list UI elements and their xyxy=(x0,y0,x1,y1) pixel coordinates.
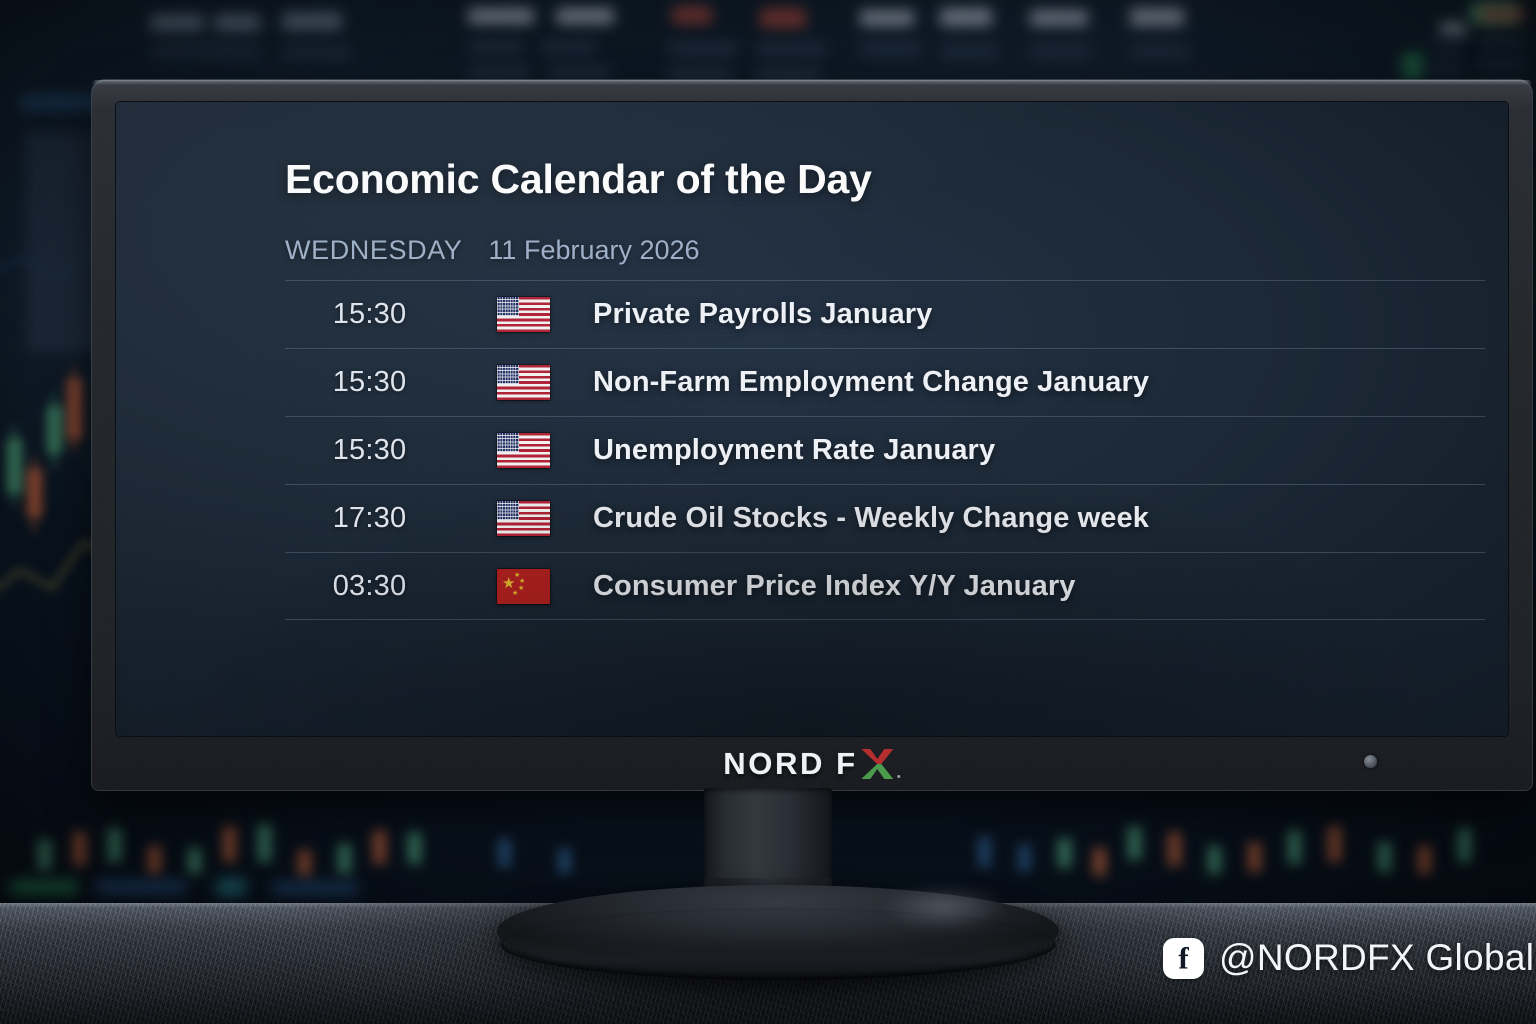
background-panel xyxy=(468,66,530,80)
power-led-indicator[interactable] xyxy=(1364,755,1377,768)
social-watermark[interactable]: f @NORDFX Global xyxy=(1163,937,1534,979)
background-panel xyxy=(96,880,186,894)
background-panel xyxy=(1402,52,1424,80)
brand-logo-registered-dot xyxy=(898,775,901,778)
date-weekday: WEDNESDAY xyxy=(285,235,462,266)
background-panel xyxy=(760,8,806,28)
background-panel xyxy=(540,40,596,54)
background-panel xyxy=(548,66,610,80)
background-panel xyxy=(282,12,342,30)
event-time: 17:30 xyxy=(285,502,454,535)
background-panel xyxy=(556,8,614,24)
event-title: Unemployment Rate January xyxy=(593,434,995,467)
background-panel xyxy=(672,6,712,24)
background-panel xyxy=(1030,10,1088,26)
background-panel xyxy=(1478,58,1524,70)
table-row[interactable]: 17:30 Crude Oil Stocks - Weekly Change w… xyxy=(285,484,1485,552)
event-title: Consumer Price Index Y/Y January xyxy=(593,570,1075,603)
background-panel xyxy=(1030,44,1092,58)
flag-us-icon xyxy=(497,297,550,332)
event-title: Crude Oil Stocks - Weekly Change week xyxy=(593,502,1149,535)
events-table: 15:30 Private Payrolls January 15:30 xyxy=(285,280,1485,620)
monitor-screen-frame: Economic Calendar of the Day WEDNESDAY 1… xyxy=(116,102,1508,736)
event-flag-cell xyxy=(454,297,593,332)
event-flag-cell xyxy=(454,433,593,468)
bezel-highlight xyxy=(92,80,1532,85)
table-row[interactable]: 03:30 ★★ ★★★ Consumer Price Index Y/Y Ja… xyxy=(285,552,1485,620)
background-panel xyxy=(150,44,260,57)
event-flag-cell xyxy=(454,365,593,400)
background-panel xyxy=(10,880,78,894)
background-panel xyxy=(668,42,738,56)
calendar-content: Economic Calendar of the Day WEDNESDAY 1… xyxy=(116,102,1508,736)
background-panel xyxy=(468,40,524,54)
background-panel xyxy=(282,46,352,59)
date-row: WEDNESDAY 11 February 2026 xyxy=(285,235,1508,266)
monitor-stand-highlight xyxy=(880,885,1010,929)
background-panel xyxy=(860,42,922,56)
event-flag-cell xyxy=(454,501,593,536)
background-panel xyxy=(1130,8,1184,26)
flag-cn-icon: ★★ ★★★ xyxy=(497,569,550,604)
event-time: 15:30 xyxy=(285,434,454,467)
table-row[interactable]: 15:30 Unemployment Rate January xyxy=(285,416,1485,484)
background-panel xyxy=(150,14,204,31)
date-value: 11 February 2026 xyxy=(488,235,699,266)
background-panel xyxy=(1130,44,1190,58)
table-row[interactable]: 15:30 Private Payrolls January xyxy=(285,280,1485,348)
background-panel xyxy=(1478,36,1524,48)
background-panel xyxy=(214,14,260,31)
facebook-icon[interactable]: f xyxy=(1163,938,1204,979)
social-handle: @NORDFX Global xyxy=(1219,937,1534,979)
event-flag-cell: ★★ ★★★ xyxy=(454,569,593,604)
background-panel xyxy=(272,882,358,894)
event-title: Non-Farm Employment Change January xyxy=(593,366,1149,399)
event-time: 15:30 xyxy=(285,298,454,331)
background-panel xyxy=(1432,62,1462,74)
background-panel xyxy=(756,42,826,56)
brand-logo-x-icon xyxy=(861,749,895,779)
flag-us-icon xyxy=(497,501,550,536)
brand-logo-text: NORD F xyxy=(723,746,857,782)
event-time: 03:30 xyxy=(285,570,454,603)
flag-us-icon xyxy=(497,433,550,468)
event-title: Private Payrolls January xyxy=(593,298,932,331)
page-title: Economic Calendar of the Day xyxy=(285,156,1508,203)
monitor: Economic Calendar of the Day WEDNESDAY 1… xyxy=(92,80,1532,790)
background-panel xyxy=(216,878,246,896)
background-panel xyxy=(1480,6,1524,22)
background-panel xyxy=(940,8,992,26)
background-panel xyxy=(860,10,914,26)
background-panel xyxy=(468,8,534,24)
flag-us-icon xyxy=(497,365,550,400)
background-panel xyxy=(1432,42,1462,54)
monitor-chin: NORD F xyxy=(92,738,1532,790)
background-panel xyxy=(940,44,998,58)
background-panel xyxy=(1440,22,1466,36)
event-time: 15:30 xyxy=(285,366,454,399)
facebook-icon-glyph: f xyxy=(1163,943,1204,974)
brand-logo: NORD F xyxy=(723,746,900,782)
table-row[interactable]: 15:30 Non-Farm Employment Change January xyxy=(285,348,1485,416)
